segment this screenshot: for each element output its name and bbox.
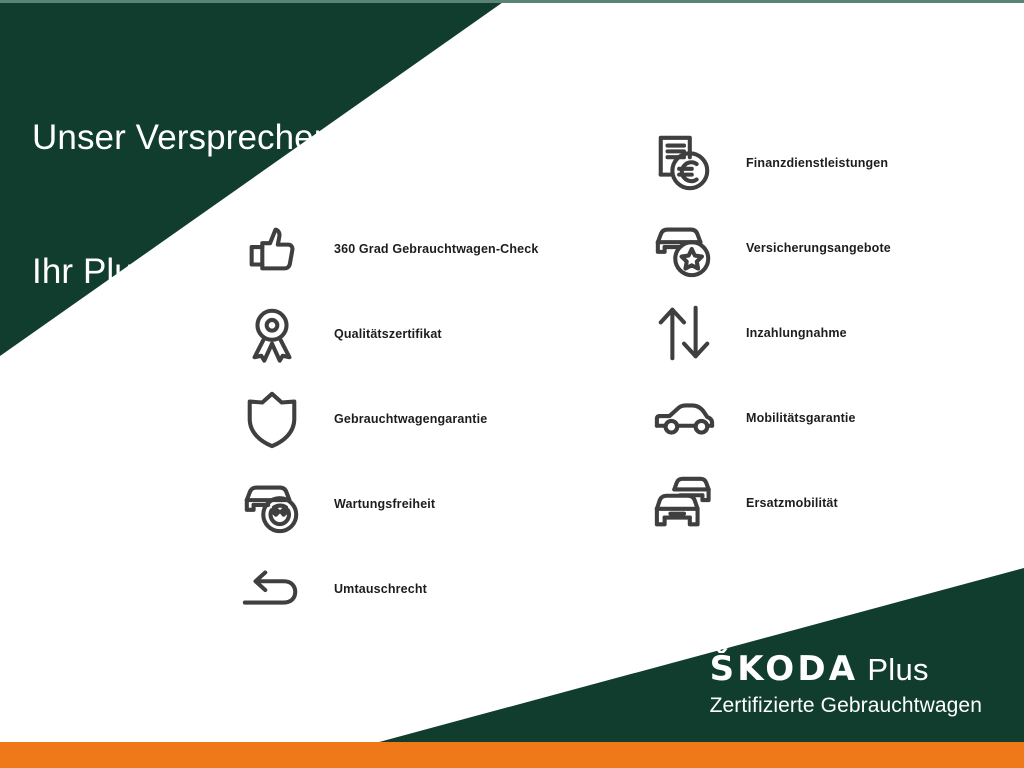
shield-icon bbox=[236, 383, 308, 455]
headline-line-1: Unser Versprechen. bbox=[32, 116, 343, 161]
bottom-orange-bar bbox=[0, 742, 1024, 768]
feature-label: Ersatzmobilität bbox=[746, 496, 838, 510]
feature-label: Mobilitätsgarantie bbox=[746, 411, 856, 425]
feature-item: Umtauschrecht bbox=[236, 546, 538, 631]
feature-label: Wartungsfreiheit bbox=[334, 497, 435, 511]
feature-item: Gebrauchtwagengarantie bbox=[236, 376, 538, 461]
promo-slide: Unser Versprechen. Ihr Plus. 360 Grad Ge… bbox=[0, 0, 1024, 768]
feature-label: 360 Grad Gebrauchtwagen-Check bbox=[334, 242, 538, 256]
skoda-wordmark: ŠKODA bbox=[710, 652, 859, 686]
feature-item: Finanzdienstleistungen bbox=[648, 120, 891, 205]
feature-label: Finanzdienstleistungen bbox=[746, 156, 888, 170]
feature-item: Wartungsfreiheit bbox=[236, 461, 538, 546]
feature-item: Qualitätszertifikat bbox=[236, 291, 538, 376]
feature-label: Inzahlungnahme bbox=[746, 326, 847, 340]
car-star-icon bbox=[648, 212, 720, 284]
car-wrench-icon bbox=[236, 468, 308, 540]
top-edge-hairline bbox=[0, 0, 1024, 3]
feature-item: Mobilitätsgarantie bbox=[648, 375, 891, 460]
feature-item: 360 Grad Gebrauchtwagen-Check bbox=[236, 206, 538, 291]
feature-item: Versicherungsangebote bbox=[648, 205, 891, 290]
award-rosette-icon bbox=[236, 298, 308, 370]
up-down-arrows-icon bbox=[648, 297, 720, 369]
thumbs-up-icon bbox=[236, 213, 308, 285]
document-euro-icon bbox=[648, 127, 720, 199]
car-side-icon bbox=[648, 382, 720, 454]
two-cars-icon bbox=[648, 467, 720, 539]
brand-plus-label: Plus bbox=[867, 654, 929, 685]
feature-label: Umtauschrecht bbox=[334, 582, 427, 596]
feature-label: Gebrauchtwagengarantie bbox=[334, 412, 487, 426]
brand-title-row: ŠKODA Plus bbox=[710, 652, 982, 686]
brand-subtitle: Zertifizierte Gebrauchtwagen bbox=[710, 695, 982, 716]
feature-label: Qualitätszertifikat bbox=[334, 327, 442, 341]
return-arrow-icon bbox=[236, 553, 308, 625]
brand-lockup: ŠKODA Plus Zertifizierte Gebrauchtwagen bbox=[710, 652, 982, 716]
feature-item: Inzahlungnahme bbox=[648, 290, 891, 375]
feature-list-right: Finanzdienstleistungen Versicherungsange… bbox=[648, 120, 891, 545]
feature-item: Ersatzmobilität bbox=[648, 460, 891, 545]
feature-label: Versicherungsangebote bbox=[746, 241, 891, 255]
feature-list-left: 360 Grad Gebrauchtwagen-Check Qualitätsz… bbox=[236, 206, 538, 631]
